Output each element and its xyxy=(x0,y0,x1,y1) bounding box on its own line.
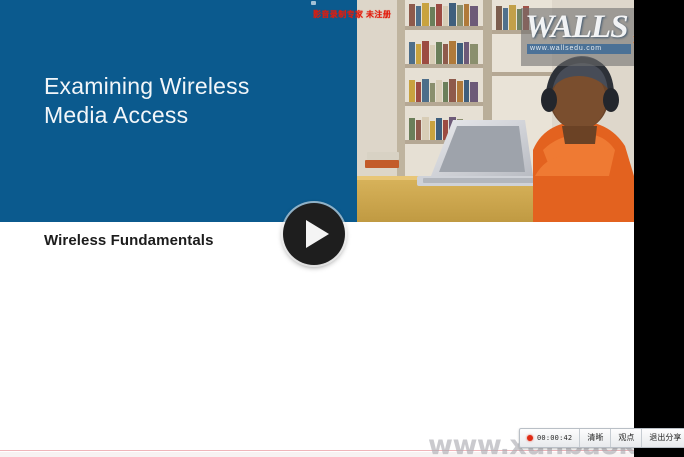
recorder-toolbar[interactable]: 00:00:42 清晰 观点 退出分享 xyxy=(519,428,684,448)
cursor-artifact xyxy=(311,1,316,5)
slide-subtitle: Wireless Fundamentals xyxy=(44,232,214,249)
walls-url-text: www.wallsedu.com xyxy=(530,44,602,54)
black-side-panel xyxy=(634,0,684,457)
screen-recorder-stage: Examining Wireless Media Access xyxy=(0,0,684,457)
slide-title: Examining Wireless Media Access xyxy=(44,72,344,130)
exit-share-button[interactable]: 退出分享 xyxy=(642,429,684,447)
unregistered-notice: 影音录制专家 未注册 xyxy=(313,9,391,20)
play-button[interactable] xyxy=(283,203,345,265)
walls-wordmark: WALLS xyxy=(525,10,628,44)
shared-slide-video[interactable]: Examining Wireless Media Access xyxy=(0,0,634,457)
record-dot-icon xyxy=(527,435,533,441)
quality-button[interactable]: 清晰 xyxy=(580,429,611,447)
recording-timer: 00:00:42 xyxy=(520,429,580,447)
walls-watermark: WALLS www.wallsedu.com 华尔思 xyxy=(521,8,634,66)
view-button[interactable]: 观点 xyxy=(611,429,642,447)
slide-title-band: Examining Wireless Media Access xyxy=(0,0,357,222)
recording-time-label: 00:00:42 xyxy=(537,430,572,446)
